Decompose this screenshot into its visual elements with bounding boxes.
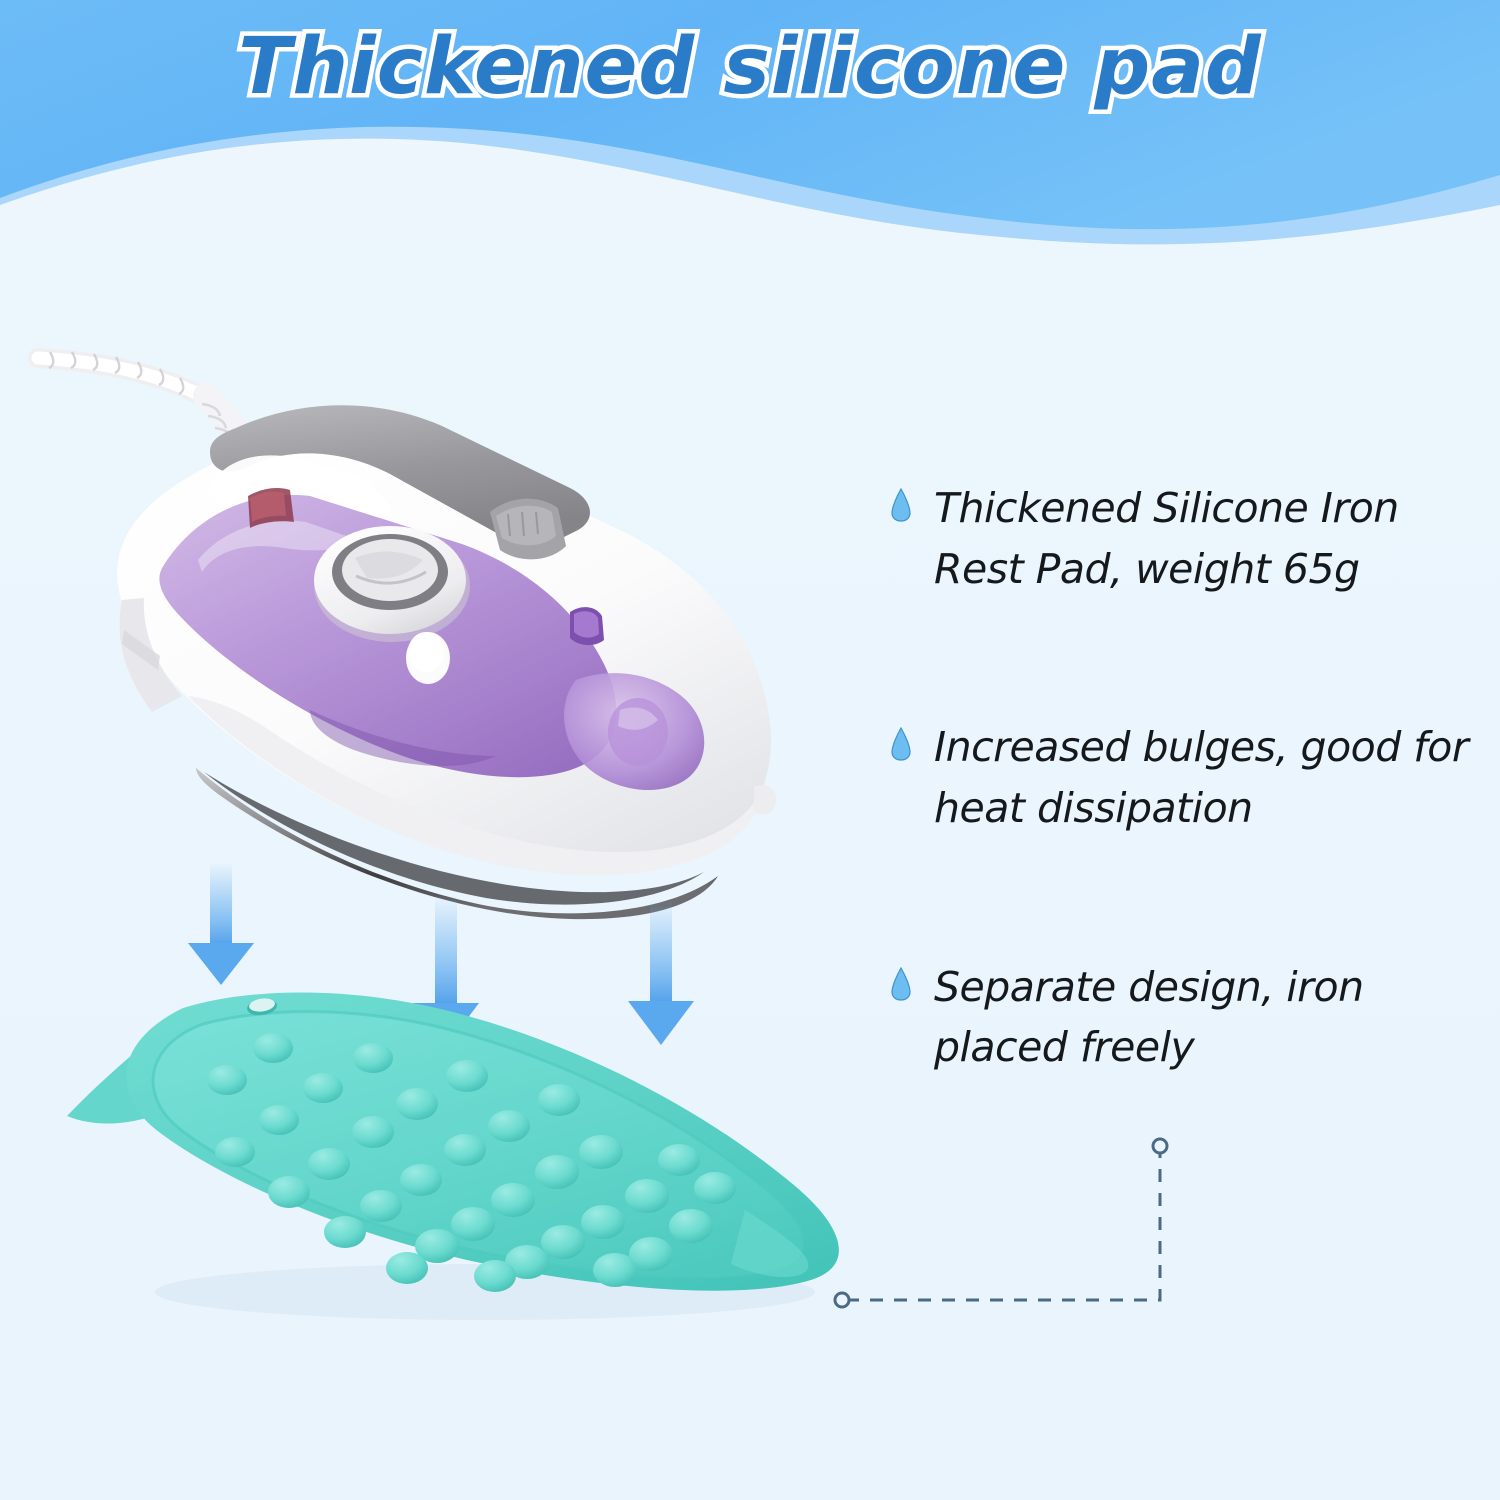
callout-endpoint-start xyxy=(835,1293,849,1307)
placement-arrow-1 xyxy=(188,863,254,985)
steam-control-top xyxy=(496,506,556,546)
feature-item-3: Separate design, iron placed freely xyxy=(890,957,1480,1078)
spray-button-top xyxy=(408,632,444,672)
iron-sole-bullet-icon xyxy=(890,727,912,761)
callout-dashed-line xyxy=(846,1150,1160,1300)
iron-sole-bullet-icon xyxy=(890,488,912,522)
steam-burst-switch-top xyxy=(574,611,599,637)
feature-text-1: Thickened Silicone Iron Rest Pad, weight… xyxy=(934,478,1479,599)
feature-item-2: Increased bulges, good for heat dissipat… xyxy=(890,717,1480,838)
front-tip-nub xyxy=(754,785,776,815)
feature-text-2: Increased bulges, good for heat dissipat… xyxy=(934,717,1479,838)
infographic-canvas: Thickened silicone pad xyxy=(0,0,1500,1500)
power-cord xyxy=(38,352,242,451)
steam-iron-image xyxy=(10,300,850,920)
callout-endpoint-end xyxy=(1153,1139,1167,1153)
iron-sole-bullet-icon xyxy=(890,967,912,1001)
silicone-pad-image xyxy=(55,980,885,1330)
feature-text-3: Separate design, iron placed freely xyxy=(934,957,1479,1078)
page-title: Thickened silicone pad xyxy=(0,22,1500,112)
header-banner: Thickened silicone pad xyxy=(0,0,1500,250)
feature-item-1: Thickened Silicone Iron Rest Pad, weight… xyxy=(890,478,1480,599)
feature-list: Thickened Silicone Iron Rest Pad, weight… xyxy=(890,478,1480,1078)
dimension-callout xyxy=(820,1130,1200,1320)
